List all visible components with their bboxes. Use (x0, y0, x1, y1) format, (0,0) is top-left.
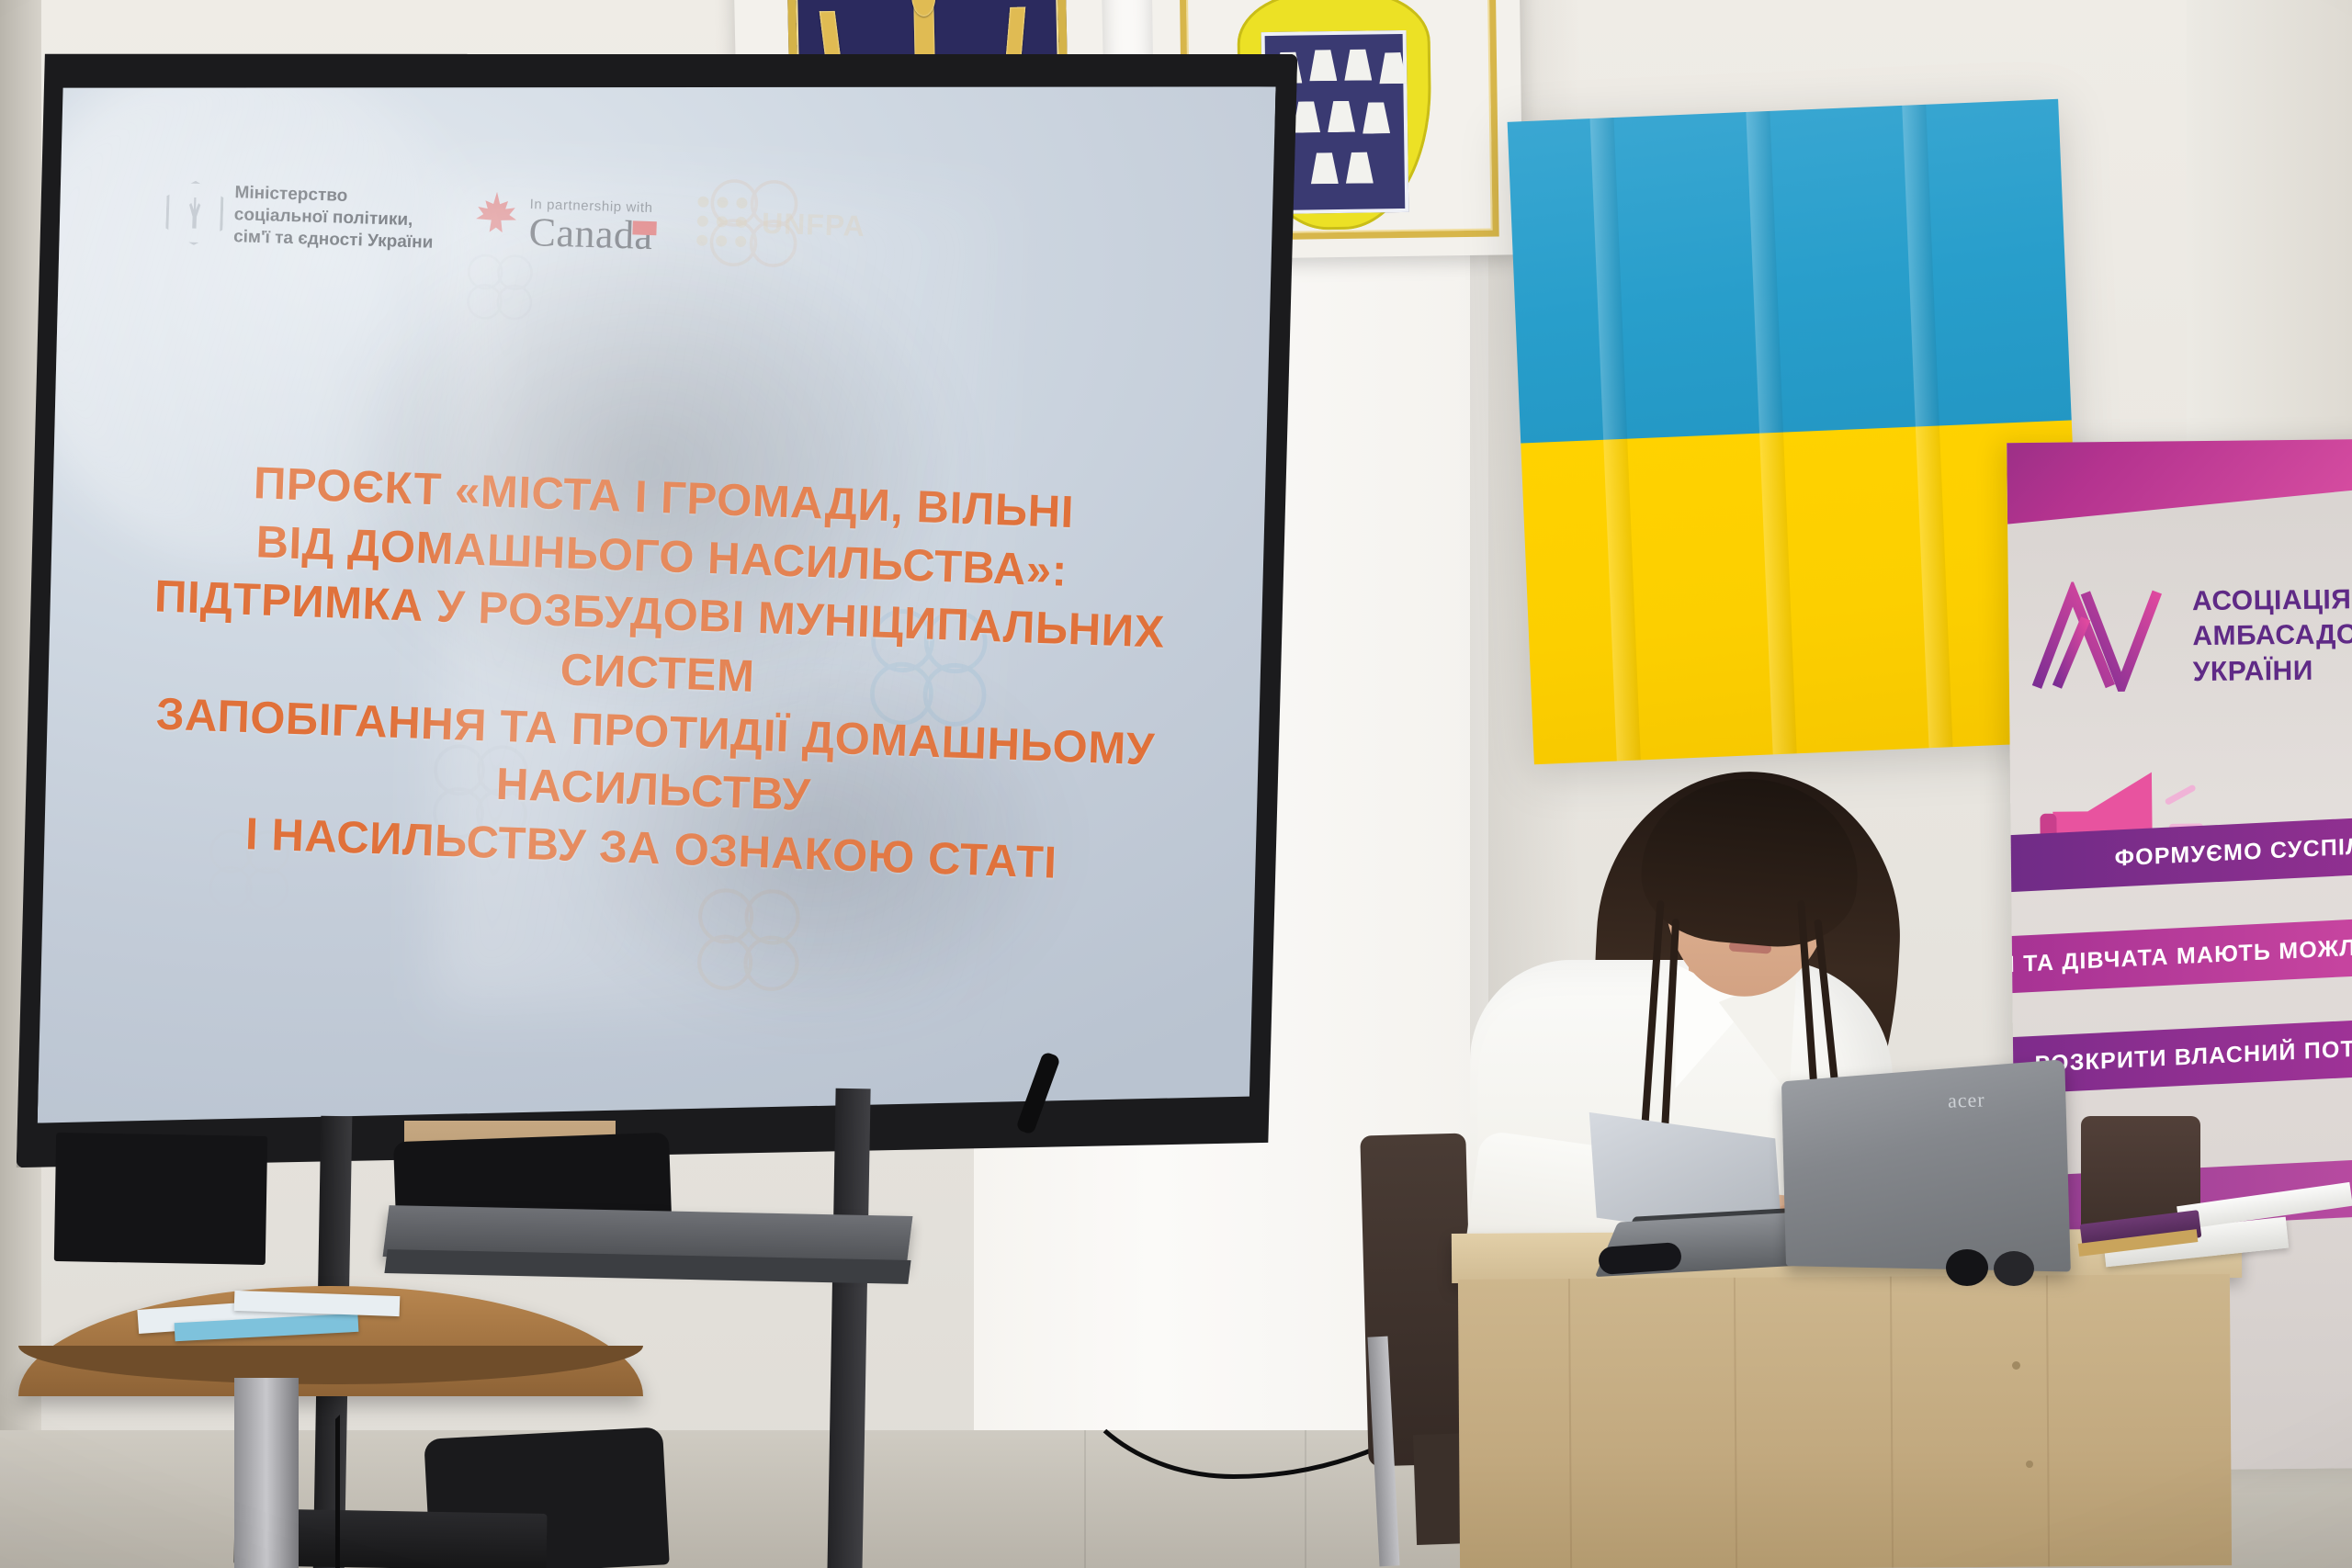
desk-screw (2026, 1461, 2033, 1468)
screen-glare-2 (435, 180, 1002, 1018)
desk-front-panel (1458, 1274, 2232, 1568)
mouse[interactable] (1598, 1242, 1682, 1275)
laptop-lid (1781, 1059, 2071, 1271)
photo-scene: УКРАЇНИ Герб Дрогобича (0, 0, 2352, 1568)
presentation-tv[interactable]: Міністерство соціальної політики, сім'ї … (17, 28, 1298, 1192)
banner-org-name: АСОЦІАЦІЯ АМБАСАДОРІВ УКРАЇНИ (2192, 582, 2352, 691)
cable-adapter (1946, 1249, 1988, 1286)
banner-top-gradient (2007, 439, 2352, 525)
desk-screw (2012, 1361, 2020, 1370)
tv-screen: Міністерство соціальної політики, сім'ї … (38, 62, 1276, 1147)
acer-brand-label: acer (1948, 1088, 1986, 1112)
banner-slogan-2: ДЕ ВСІ ЖІНКИ ТА ДІВЧАТА МАЮТЬ МОЖЛИВІСТЬ (2007, 914, 2352, 994)
cable-adapter (1994, 1251, 2034, 1286)
ukraine-flag (1508, 99, 2086, 765)
aav-logo-icon (2029, 581, 2177, 693)
tv-base-box (54, 1133, 267, 1265)
